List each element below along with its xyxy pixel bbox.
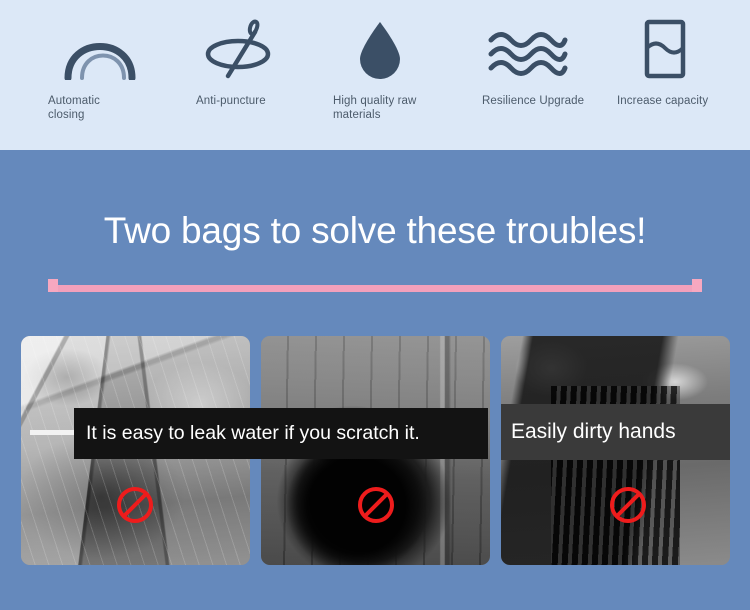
arch-closing-icon [62,18,158,80]
headline-underline [48,285,702,292]
caption-text: It is easy to leak water if you scratch … [86,422,420,445]
needle-ellipse-icon [200,18,306,80]
feature-strip: Automatic closing Anti-puncture High qua… [0,0,750,150]
feature-label: Automatic closing [48,94,158,122]
waves-icon [486,18,592,80]
feature-item-high-quality-raw-materials: High quality raw materials [333,18,438,122]
caption-banner-dirty-hands: Easily dirty hands [501,404,730,460]
feature-label: Increase capacity [617,94,727,108]
underline-cap-left [48,279,58,292]
prohibition-icon [117,487,153,523]
caption-accent-line [30,430,78,435]
feature-label: Resilience Upgrade [482,94,592,108]
page-title: Two bags to solve these troubles! [0,205,750,257]
underline-cap-right [692,279,702,292]
feature-item-increase-capacity: Increase capacity [617,18,727,108]
feature-label: Anti-puncture [196,94,306,108]
water-droplet-icon [357,18,438,80]
headline-wrap: Two bags to solve these troubles! [0,205,750,257]
prohibition-icon [610,487,646,523]
prohibition-icon [358,487,394,523]
caption-banner-leak: It is easy to leak water if you scratch … [74,408,488,459]
promo-banner-page: Automatic closing Anti-puncture High qua… [0,0,750,610]
caption-text: Easily dirty hands [511,420,676,444]
feature-label: High quality raw materials [333,94,438,122]
feature-item-automatic-closing: Automatic closing [48,18,158,122]
container-fill-icon [635,18,727,80]
feature-item-anti-puncture: Anti-puncture [196,18,306,108]
feature-item-resilience-upgrade: Resilience Upgrade [482,18,592,108]
